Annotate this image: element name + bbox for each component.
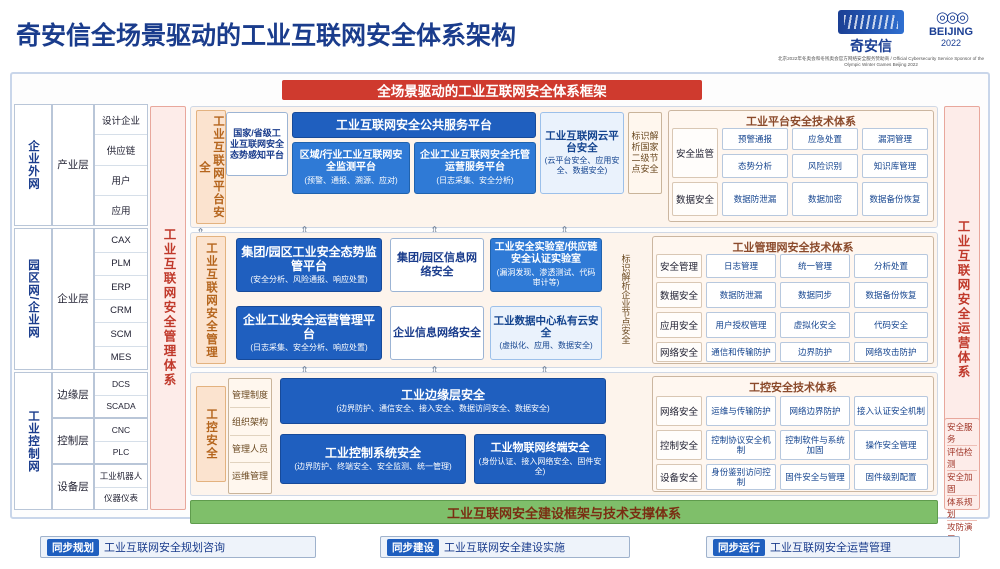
card-title: 企业信息网络安全 [393, 326, 481, 340]
tech-label-platform-2: 数据安全 [672, 182, 718, 216]
tech-cell[interactable]: 网络攻击防护 [854, 342, 928, 362]
taxonomy-item: CRM [95, 300, 147, 324]
taxonomy-layer-2-2: 设备层 [52, 464, 94, 510]
card-title: 工业安全实验室/供应链安全认证实验室 [493, 242, 599, 266]
management-basis-group: 管理制度 组织架构 管理人员 运维管理 [228, 378, 272, 494]
footer: 同步规划 工业互联网安全规划咨询 同步建设 工业互联网安全建设实施 同步运行 工… [0, 532, 1000, 564]
taxonomy-item: CAX [95, 229, 147, 253]
card-title: 企业工业互联网安全托管运营服务平台 [417, 150, 533, 174]
tech-cell[interactable]: 运维与传输防护 [706, 396, 776, 426]
taxonomy-item: 设计企业 [95, 105, 147, 135]
footer-pill-2-text: 工业互联网安全运营管理 [770, 539, 891, 555]
taxonomy-layer-2-0: 边缘层 [52, 372, 94, 418]
tech-cell[interactable]: 固件级别配置 [854, 464, 928, 490]
tech-label-mgmt-2: 应用安全 [656, 312, 702, 338]
section-control-side-label: 工控安全 [196, 386, 226, 482]
card-subtitle: (日志采集、安全分析) [436, 176, 513, 186]
sponsor-note: 北京2022年冬奥会和冬残奥会官方网络安全服务赞助商 / Official Cy… [776, 56, 986, 68]
tech-label-mgmt-3: 网络安全 [656, 342, 702, 362]
tech-cell[interactable]: 漏洞管理 [862, 128, 928, 150]
taxonomy-item: 工业机器人 [95, 465, 147, 488]
tech-cell[interactable]: 操作安全管理 [854, 430, 928, 460]
card-subtitle: (边界防护、通信安全、接入安全、数据访问安全、数据安全) [336, 404, 549, 414]
page-title: 奇安信全场景驱动的工业互联网安全体系架构 [16, 16, 516, 52]
qax-logo-mark [838, 10, 904, 34]
card-title: 工业互联网云平台安全 [543, 130, 621, 154]
card-security-lab[interactable]: 工业安全实验室/供应链安全认证实验室 (漏洞发现、渗透测试、代码审计等) [490, 238, 602, 292]
card-enterprise-hosting[interactable]: 企业工业互联网安全托管运营服务平台 (日志采集、安全分析) [414, 142, 536, 194]
operations-item[interactable]: 安全加固 [947, 471, 977, 496]
taxonomy-items-1-0: CAX PLM ERP CRM SCM MES [94, 228, 148, 370]
card-title: 工业物联网终端安全 [491, 441, 590, 455]
taxonomy-layer-1-0: 企业层 [52, 228, 94, 370]
tech-label-platform-0: 安全监管 [672, 128, 718, 178]
tech-cell[interactable]: 网络边界防护 [780, 396, 850, 426]
card-subtitle: (预警、通报、溯源、应对) [304, 176, 397, 186]
taxonomy-item: SCM [95, 323, 147, 347]
tech-cell[interactable]: 应急处置 [792, 128, 858, 150]
tech-cell[interactable]: 数据备份恢复 [854, 282, 928, 308]
card-mgmt-system[interactable]: 管理制度 [230, 383, 270, 408]
taxonomy-item: PLC [95, 442, 147, 464]
tech-cell[interactable]: 接入认证安全机制 [854, 396, 928, 426]
tech-cell[interactable]: 数据同步 [780, 282, 850, 308]
footer-pill-2[interactable]: 同步运行 工业互联网安全运营管理 [706, 536, 960, 558]
tech-cell[interactable]: 用户授权管理 [706, 312, 776, 338]
tech-label-mgmt-1: 数据安全 [656, 282, 702, 308]
taxonomy-items-2-0: DCS SCADA [94, 372, 148, 418]
taxonomy-item: 应用 [95, 196, 147, 225]
tech-label-ctrl-2: 设备安全 [656, 464, 702, 490]
card-title: 国家/省级工业互联网安全态势感知平台 [229, 128, 285, 161]
tech-cell[interactable]: 控制软件与系统加固 [780, 430, 850, 460]
card-enterprise-info-net[interactable]: 企业信息网络安全 [390, 306, 484, 360]
tech-cell[interactable]: 虚拟化安全 [780, 312, 850, 338]
footer-pill-1-tag: 同步建设 [387, 539, 439, 556]
taxonomy-network-2: 工业控制网 [14, 372, 52, 510]
card-title: 企业工业安全运营管理平台 [239, 313, 379, 341]
tech-cell[interactable]: 风险识别 [792, 154, 858, 178]
card-public-service[interactable]: 工业互联网安全公共服务平台 [292, 112, 536, 138]
taxonomy-item: MES [95, 347, 147, 370]
taxonomy-item: SCADA [95, 396, 147, 418]
tech-cell[interactable]: 数据加密 [792, 182, 858, 216]
taxonomy-items-0-0: 设计企业 供应链 用户 应用 [94, 104, 148, 226]
card-edge-security[interactable]: 工业边缘层安全 (边界防护、通信安全、接入安全、数据访问安全、数据安全) [280, 378, 606, 424]
tech-panel-platform-title: 工业平台安全技术体系 [669, 113, 933, 129]
tech-cell[interactable]: 通信和传输防护 [706, 342, 776, 362]
card-title: 工业边缘层安全 [401, 388, 485, 402]
olympic-logo-line1: BEIJING [918, 26, 984, 38]
footer-pill-2-tag: 同步运行 [713, 539, 765, 556]
section-platform-side-label: 工业互联网平台安全 [196, 110, 226, 224]
card-title: 工业互联网安全公共服务平台 [336, 118, 492, 132]
card-private-cloud[interactable]: 工业数据中心私有云安全 (虚拟化、应用、数据安全) [490, 306, 602, 360]
tech-cell[interactable]: 身份鉴别访问控制 [706, 464, 776, 490]
taxonomy-items-2-2: 工业机器人 仪器仪表 [94, 464, 148, 510]
tech-cell[interactable]: 数据防泄漏 [722, 182, 788, 216]
card-ics-security[interactable]: 工业控制系统安全 (边界防护、终端安全、安全监测、统一管理) [280, 434, 466, 484]
taxonomy-layer-2-1: 控制层 [52, 418, 94, 464]
taxonomy-network-1: 园区网/企业网 [14, 228, 52, 370]
tech-cell[interactable]: 代码安全 [854, 312, 928, 338]
tech-label-ctrl-0: 网络安全 [656, 396, 702, 426]
slide-root: 奇安信全场景驱动的工业互联网安全体系架构 奇安信 ◎◎◎ BEIJING 202… [0, 0, 1000, 569]
taxonomy-layer-0-0: 产业层 [52, 104, 94, 226]
operations-list: 安全服务 评估检测 安全加固 体系规划 攻防演习 [944, 418, 980, 510]
card-subtitle: (身份认证、接入网络安全、固件安全) [477, 457, 603, 477]
tech-panel-management-title: 工业管理网安全技术体系 [653, 239, 933, 255]
sponsor-logos: 奇安信 ◎◎◎ BEIJING 2022 北京2022年冬奥会和冬残奥会官方网络… [776, 6, 986, 66]
taxonomy-item: ERP [95, 276, 147, 300]
qax-logo: 奇安信 [834, 10, 908, 54]
taxonomy-items-2-1: CNC PLC [94, 418, 148, 464]
footer-pill-1-text: 工业互联网安全建设实施 [444, 539, 565, 555]
tech-cell[interactable]: 固件安全与管理 [780, 464, 850, 490]
framework-band-title: 全场景驱动的工业互联网安全体系框架 [282, 80, 702, 100]
taxonomy-item: DCS [95, 373, 147, 396]
card-subtitle: (漏洞发现、渗透测试、代码审计等) [493, 268, 599, 288]
tech-cell[interactable]: 态势分析 [722, 154, 788, 178]
section-management-side-label: 工业互联网安全管理 [196, 236, 226, 364]
card-iiot-terminal[interactable]: 工业物联网终端安全 (身份认证、接入网络安全、固件安全) [474, 434, 606, 484]
pillar-management: 工业互联网安全管理体系 [150, 106, 186, 510]
tech-cell[interactable]: 数据备份恢复 [862, 182, 928, 216]
card-title: 集团/园区工业安全态势监管平台 [239, 245, 379, 273]
card-national-platform[interactable]: 国家/省级工业互联网安全态势感知平台 [226, 112, 288, 176]
card-region-industry[interactable]: 区域/行业工业互联网安全监测平台 (预警、通报、溯源、应对) [292, 142, 410, 194]
tech-cell[interactable]: 预警通报 [722, 128, 788, 150]
card-identity-enterprise-node[interactable]: 标识解析企业节点安全 [608, 238, 642, 360]
operations-item[interactable]: 评估检测 [947, 446, 977, 471]
tech-cell[interactable]: 统一管理 [780, 254, 850, 278]
card-subtitle: (边界防护、终端安全、安全监测、统一管理) [294, 462, 451, 472]
tech-label-ctrl-1: 控制安全 [656, 430, 702, 460]
footer-pill-1[interactable]: 同步建设 工业互联网安全建设实施 [380, 536, 630, 558]
qax-logo-text: 奇安信 [834, 36, 908, 56]
taxonomy-item: 用户 [95, 166, 147, 196]
footer-pill-0-text: 工业互联网安全规划咨询 [104, 539, 225, 555]
card-title: 工业控制系统安全 [325, 446, 421, 460]
card-mgmt-ops[interactable]: 运维管理 [230, 465, 270, 489]
card-cloud-platform[interactable]: 工业互联网云平台安全 (云平台安全、应用安全、数据安全) [540, 112, 624, 194]
taxonomy-table: 企业外网 产业层 设计企业 供应链 用户 应用 园区网/企业网 企业层 CAX … [14, 104, 148, 510]
card-title: 区域/行业工业互联网安全监测平台 [295, 150, 407, 174]
olympic-logo-line2: 2022 [918, 38, 984, 48]
card-subtitle: (日志采集、安全分析、响应处置) [250, 343, 367, 353]
tech-cell[interactable]: 知识库管理 [862, 154, 928, 178]
card-mgmt-people[interactable]: 管理人员 [230, 438, 270, 463]
card-subtitle: (云平台安全、应用安全、数据安全) [543, 156, 621, 176]
taxonomy-item: CNC [95, 419, 147, 442]
tech-cell[interactable]: 日志管理 [706, 254, 776, 278]
operations-item[interactable]: 体系规划 [947, 496, 977, 521]
tech-cell[interactable]: 控制协议安全机制 [706, 430, 776, 460]
card-subtitle: (虚拟化、应用、数据安全) [499, 341, 592, 351]
operations-item[interactable]: 安全服务 [947, 421, 977, 446]
footer-pill-0[interactable]: 同步规划 工业互联网安全规划咨询 [40, 536, 316, 558]
tech-cell[interactable]: 边界防护 [780, 342, 850, 362]
taxonomy-network-0: 企业外网 [14, 104, 52, 226]
tech-panel-control-title: 工控安全技术体系 [653, 379, 933, 395]
green-support-bar: 工业互联网安全建设框架与技术支撑体系 [190, 500, 938, 524]
card-group-park-info[interactable]: 集团/园区信息网络安全 [390, 238, 484, 292]
tech-cell[interactable]: 分析处置 [854, 254, 928, 278]
footer-pill-0-tag: 同步规划 [47, 539, 99, 556]
card-title: 工业数据中心私有云安全 [493, 315, 599, 339]
taxonomy-item: PLM [95, 253, 147, 277]
card-enterprise-ops[interactable]: 企业工业安全运营管理平台 (日志采集、安全分析、响应处置) [236, 306, 382, 360]
card-mgmt-org[interactable]: 组织架构 [230, 410, 270, 435]
tech-cell[interactable]: 数据防泄漏 [706, 282, 776, 308]
olympic-rings-icon: ◎◎◎ [918, 8, 984, 26]
taxonomy-item: 供应链 [95, 135, 147, 165]
taxonomy-item: 仪器仪表 [95, 488, 147, 510]
card-group-park-situation[interactable]: 集团/园区工业安全态势监管平台 (安全分析、风险通报、响应处置) [236, 238, 382, 292]
card-identity-node[interactable]: 标识解析国家二级节点安全 [628, 112, 662, 194]
card-subtitle: (安全分析、风险通报、响应处置) [250, 275, 367, 285]
tech-label-mgmt-0: 安全管理 [656, 254, 702, 278]
card-title: 集团/园区信息网络安全 [393, 251, 481, 279]
olympic-logo: ◎◎◎ BEIJING 2022 [918, 8, 984, 56]
